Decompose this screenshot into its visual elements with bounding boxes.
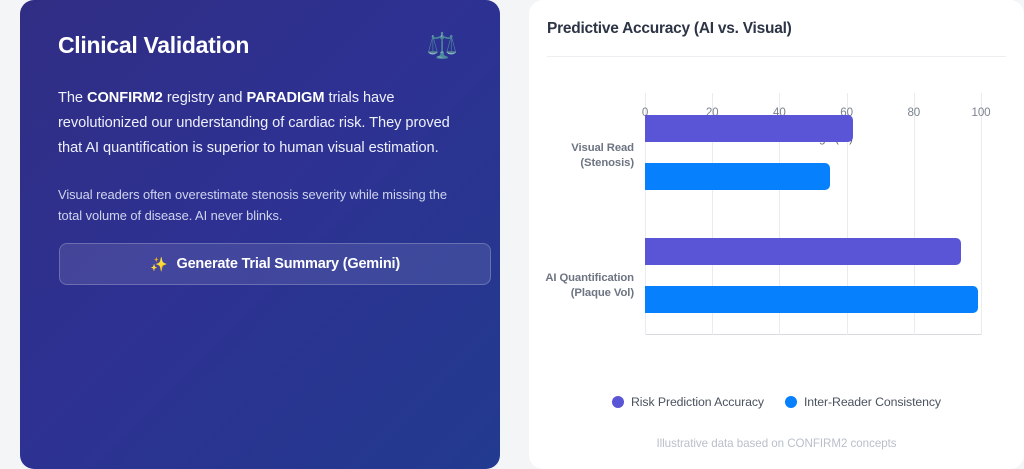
- y-axis-tick-label-line: Visual Read: [504, 141, 634, 156]
- lead-part-2: registry and: [163, 90, 247, 106]
- legend-color-swatch: [612, 396, 624, 408]
- app-root: Clinical Validation ⚖️ The CONFIRM2 regi…: [0, 0, 1024, 469]
- chart-title: Predictive Accuracy (AI vs. Visual): [547, 20, 792, 38]
- secondary-paragraph: Visual readers often overestimate stenos…: [58, 185, 462, 227]
- trial-name-confirm2: CONFIRM2: [87, 90, 163, 106]
- grid-line: [981, 93, 982, 335]
- chart-bar[interactable]: [645, 115, 853, 142]
- chart-bar[interactable]: [645, 163, 830, 190]
- page-title: Clinical Validation: [58, 32, 249, 58]
- lead-part-1: The: [58, 90, 87, 106]
- legend-label: Risk Prediction Accuracy: [631, 395, 764, 409]
- title-divider: [547, 56, 1006, 57]
- x-axis-tick-label: 100: [971, 106, 990, 119]
- sparkles-icon: ✨: [150, 257, 167, 271]
- card-body: The CONFIRM2 registry and PARADIGM trial…: [58, 86, 462, 227]
- legend-item-inter-reader-consistency[interactable]: Inter-Reader Consistency: [785, 395, 941, 409]
- generate-trial-summary-label: Generate Trial Summary (Gemini): [176, 256, 399, 272]
- chart-bar[interactable]: [645, 238, 961, 265]
- x-axis-line: [645, 334, 981, 335]
- chart-plot-area: 020406080100Percentage (%)Visual Read(St…: [645, 93, 981, 335]
- y-axis-tick-label-line: (Plaque Vol): [504, 286, 634, 301]
- clinical-validation-card: Clinical Validation ⚖️ The CONFIRM2 regi…: [20, 0, 500, 469]
- chart-legend: Risk Prediction Accuracy Inter-Reader Co…: [529, 395, 1024, 409]
- legend-label: Inter-Reader Consistency: [804, 395, 941, 409]
- predictive-accuracy-card: Predictive Accuracy (AI vs. Visual) 0204…: [529, 0, 1024, 469]
- y-axis-tick-label: Visual Read(Stenosis): [504, 141, 634, 171]
- card-header: Clinical Validation ⚖️: [58, 32, 462, 59]
- trial-name-paradigm: PARADIGM: [246, 90, 324, 106]
- generate-trial-summary-button[interactable]: ✨ Generate Trial Summary (Gemini): [59, 243, 491, 285]
- legend-item-risk-prediction-accuracy[interactable]: Risk Prediction Accuracy: [612, 395, 764, 409]
- y-axis-tick-label-line: AI Quantification: [504, 271, 634, 286]
- y-axis-tick-label-line: (Stenosis): [504, 156, 634, 171]
- x-axis-tick-label: 80: [907, 106, 920, 119]
- legend-color-swatch: [785, 396, 797, 408]
- lead-paragraph: The CONFIRM2 registry and PARADIGM trial…: [58, 86, 462, 161]
- balance-scales-icon: ⚖️: [427, 34, 458, 59]
- chart-footnote: Illustrative data based on CONFIRM2 conc…: [529, 437, 1024, 450]
- chart-bar[interactable]: [645, 286, 978, 313]
- y-axis-tick-label: AI Quantification(Plaque Vol): [504, 271, 634, 301]
